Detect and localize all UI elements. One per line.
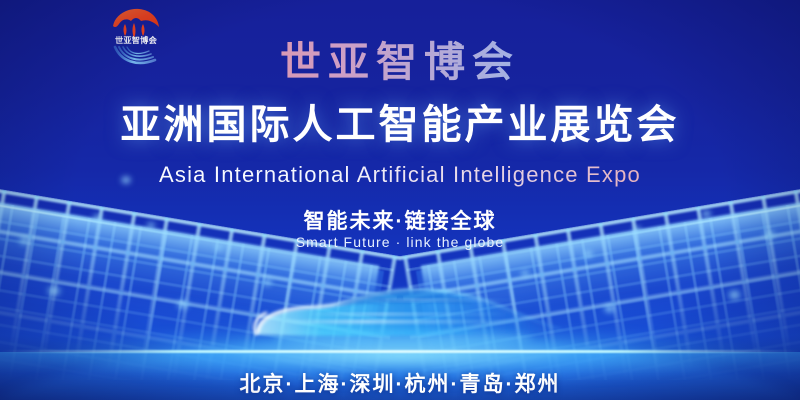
expo-banner: 世亚智博会 世亚智博会 亚洲国际人工智能产业展览会 Asia Internati… (0, 0, 800, 400)
subtitle-chinese: 亚洲国际人工智能产业展览会 (0, 92, 800, 150)
subtitle-english: Asia International Artificial Intelligen… (0, 162, 800, 188)
slogan-chinese: 智能未来·链接全球 (0, 205, 800, 235)
page-title: 世亚智博会 (0, 28, 800, 88)
banner-content: 世亚智博会 亚洲国际人工智能产业展览会 Asia International A… (0, 0, 800, 400)
slogan-english: Smart Future · link the globe (0, 234, 800, 250)
city-list: 北京·上海·深圳·杭州·青岛·郑州 (0, 368, 800, 398)
